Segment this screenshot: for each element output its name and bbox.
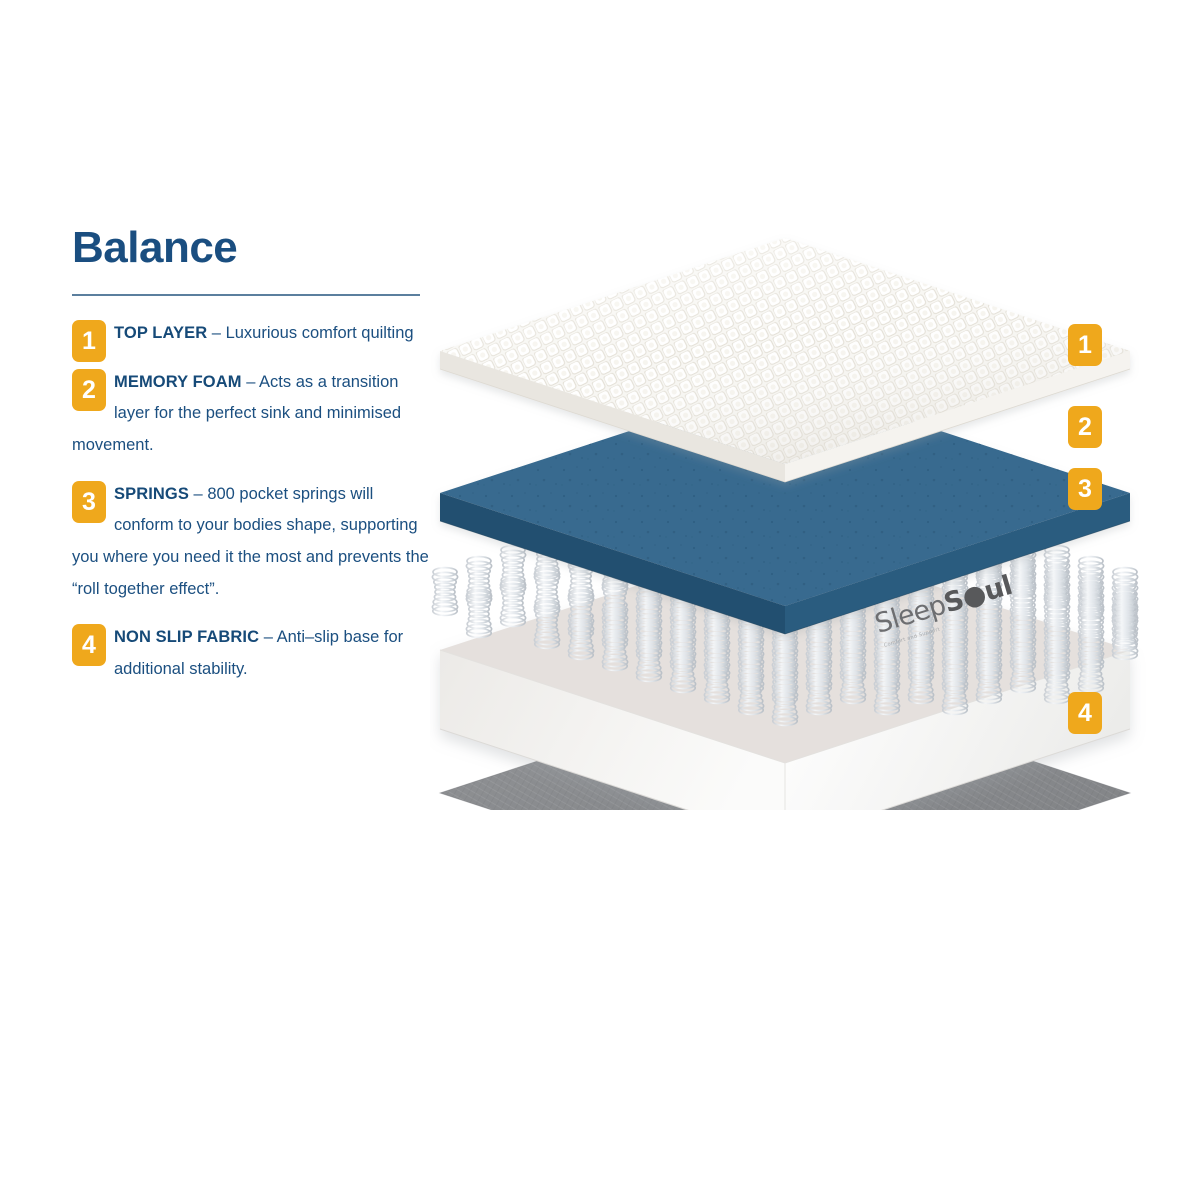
feature-item-non-slip-fabric: 4 NON SLIP FABRIC – Anti–slip base for a… bbox=[72, 622, 432, 685]
feature-lead-1: TOP LAYER bbox=[114, 324, 207, 342]
feature-badge-3: 3 bbox=[72, 481, 106, 523]
feature-item-springs: 3 SPRINGS – 800 pocket springs will conf… bbox=[72, 479, 432, 606]
feature-lead-4: NON SLIP FABRIC bbox=[114, 628, 259, 646]
feature-badge-4: 4 bbox=[72, 624, 106, 666]
infographic-page: Balance 1 TOP LAYER – Luxurious comfort … bbox=[0, 0, 1200, 1200]
top-quilting-layer bbox=[440, 238, 1130, 482]
callout-badge-2: 2 bbox=[1068, 406, 1102, 448]
feature-badge-2: 2 bbox=[72, 369, 106, 411]
feature-lead-2: MEMORY FOAM bbox=[114, 373, 242, 391]
feature-item-memory-foam: 2 MEMORY FOAM – Acts as a transition lay… bbox=[72, 367, 432, 462]
feature-body-1: – Luxurious comfort quilting bbox=[207, 324, 413, 342]
feature-lead-3: SPRINGS bbox=[114, 485, 189, 503]
mattress-exploded-diagram bbox=[430, 230, 1160, 810]
feature-badge-1: 1 bbox=[72, 320, 106, 362]
feature-text-4: NON SLIP FABRIC – Anti–slip base for add… bbox=[72, 622, 432, 685]
feature-text-1: TOP LAYER – Luxurious comfort quilting bbox=[72, 318, 432, 350]
feature-list: 1 TOP LAYER – Luxurious comfort quilting… bbox=[72, 318, 432, 686]
callout-badge-1: 1 bbox=[1068, 324, 1102, 366]
title-divider bbox=[72, 294, 420, 296]
page-title: Balance bbox=[72, 226, 432, 270]
feature-item-top-layer: 1 TOP LAYER – Luxurious comfort quilting bbox=[72, 318, 432, 350]
callout-badge-4: 4 bbox=[1068, 692, 1102, 734]
callout-badge-3: 3 bbox=[1068, 468, 1102, 510]
feature-text-2: MEMORY FOAM – Acts as a transition layer… bbox=[72, 367, 432, 462]
info-panel: Balance 1 TOP LAYER – Luxurious comfort … bbox=[72, 226, 432, 703]
feature-text-3: SPRINGS – 800 pocket springs will confor… bbox=[72, 479, 432, 606]
